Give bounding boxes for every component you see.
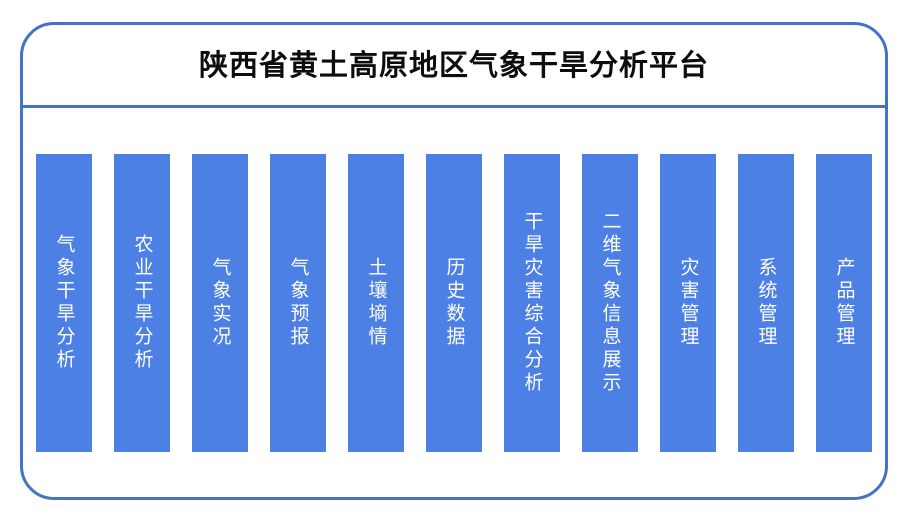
module-bar-label: 气象干旱分析: [50, 234, 79, 372]
module-bar-weather-forecast[interactable]: 气象预报: [270, 154, 326, 452]
module-bar-weather-observation[interactable]: 气象实况: [192, 154, 248, 452]
module-bar-label: 灾害管理: [674, 257, 703, 349]
module-bar-drought-disaster-comprehensive-analysis[interactable]: 干旱灾害综合分析: [504, 154, 560, 452]
module-rail: 气象干旱分析 农业干旱分析 气象实况 气象预报 土壤墒情 历史数据 干旱灾害综合…: [23, 108, 885, 497]
title-bar: 陕西省黄土高原地区气象干旱分析平台: [23, 25, 885, 105]
module-bar-label: 二维气象信息展示: [596, 211, 625, 395]
module-bar-system-management[interactable]: 系统管理: [738, 154, 794, 452]
module-bar-label: 土壤墒情: [362, 257, 391, 349]
module-bar-soil-moisture[interactable]: 土壤墒情: [348, 154, 404, 452]
module-bar-label: 系统管理: [752, 257, 781, 349]
module-bar-label: 干旱灾害综合分析: [518, 211, 547, 395]
module-bar-label: 历史数据: [440, 257, 469, 349]
module-bar-2d-meteorological-information-display[interactable]: 二维气象信息展示: [582, 154, 638, 452]
application-frame: 陕西省黄土高原地区气象干旱分析平台 气象干旱分析 农业干旱分析 气象实况 气象预…: [20, 22, 888, 500]
module-bar-disaster-management[interactable]: 灾害管理: [660, 154, 716, 452]
module-bar-label: 气象实况: [206, 257, 235, 349]
module-bar-historical-data[interactable]: 历史数据: [426, 154, 482, 452]
module-bar-label: 产品管理: [830, 257, 859, 349]
module-bar-label: 农业干旱分析: [128, 234, 157, 372]
module-bar-agricultural-drought-analysis[interactable]: 农业干旱分析: [114, 154, 170, 452]
module-bar-product-management[interactable]: 产品管理: [816, 154, 872, 452]
page-title: 陕西省黄土高原地区气象干旱分析平台: [199, 51, 709, 80]
module-bar-meteorological-drought-analysis[interactable]: 气象干旱分析: [36, 154, 92, 452]
module-bar-label: 气象预报: [284, 257, 313, 349]
